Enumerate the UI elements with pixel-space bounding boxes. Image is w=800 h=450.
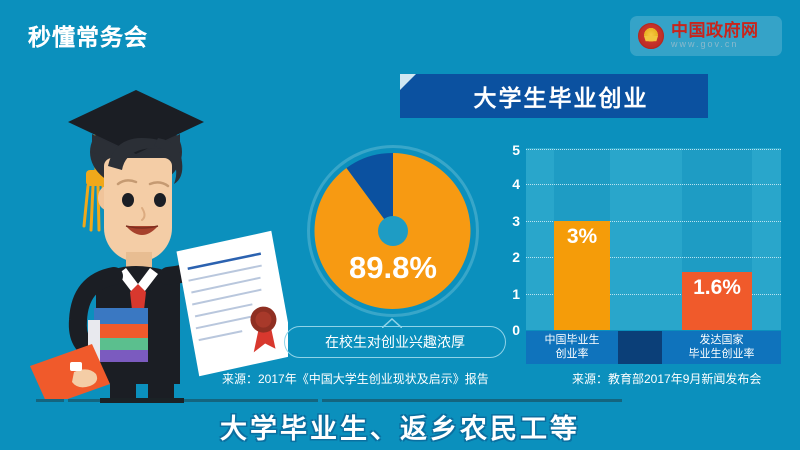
- y-tick-1: 1: [512, 286, 520, 302]
- y-tick-0: 0: [512, 322, 520, 338]
- plot-band: [610, 148, 682, 330]
- pie-value-label: 89.8%: [311, 250, 475, 286]
- bar-value-label-1: 1.6%: [693, 276, 741, 300]
- footer-headline: 大学毕业生、返乡农民工等: [220, 407, 580, 446]
- category-label-developed: 发达国家 毕业生创业率: [662, 331, 781, 364]
- y-tick-5: 5: [512, 142, 520, 158]
- gov-badge-text: 中国政府网 www.gov.cn: [671, 22, 759, 49]
- pie-chart: [311, 149, 475, 313]
- gov-site-name: 中国政府网: [671, 22, 759, 40]
- category-label-china: 中国毕业生 创业率: [526, 331, 618, 364]
- pie-chart-block: 89.8% 在校生对创业兴趣浓厚: [300, 142, 490, 362]
- plot-band: [752, 148, 781, 330]
- bar-chart-plot-area: 3% 1.6%: [526, 148, 781, 330]
- bar-chart-y-axis: 0 1 2 3 4 5: [500, 148, 524, 330]
- bar-developed-countries-rate[interactable]: 1.6%: [682, 272, 752, 330]
- infographic-canvas: 秒懂常务会 中国政府网 www.gov.cn 大学生毕业创业: [0, 0, 800, 450]
- category-line-2: 毕业生创业率: [689, 348, 755, 362]
- pie-caption: 在校生对创业兴趣浓厚: [284, 326, 506, 358]
- pie-source-note: 来源：2017年《中国大学生创业现状及启示》报告: [222, 370, 489, 387]
- category-row-gap: [618, 331, 662, 364]
- gridline-4: [526, 184, 781, 185]
- bar-chart-category-row: 中国毕业生 创业率 发达国家 毕业生创业率: [526, 331, 781, 364]
- section-title: 大学生毕业创业: [400, 74, 708, 118]
- y-tick-4: 4: [512, 176, 520, 192]
- category-line-2: 创业率: [556, 348, 589, 362]
- section-banner: 大学生毕业创业: [400, 74, 708, 118]
- bar-source-note: 来源：教育部2017年9月新闻发布会: [572, 370, 761, 387]
- gridline-5: [526, 149, 781, 150]
- bar-chart-block: 0 1 2 3 4 5 3% 1.6% 中国毕业生: [500, 148, 786, 363]
- program-logo-text: 秒懂常务会: [28, 18, 148, 52]
- china-emblem-icon: [638, 23, 664, 49]
- gov-website-badge[interactable]: 中国政府网 www.gov.cn: [630, 16, 782, 56]
- bar-value-label-0: 3%: [567, 225, 597, 249]
- y-tick-2: 2: [512, 249, 520, 265]
- category-line-1: 中国毕业生: [545, 334, 600, 348]
- category-line-1: 发达国家: [700, 334, 744, 348]
- plot-band: [526, 148, 554, 330]
- y-tick-3: 3: [512, 213, 520, 229]
- graduate-student-illustration: [8, 80, 288, 400]
- footer-banner: 大学毕业生、返乡农民工等: [0, 403, 800, 450]
- bar-china-graduate-rate[interactable]: 3%: [554, 221, 610, 330]
- gov-site-url: www.gov.cn: [671, 40, 759, 49]
